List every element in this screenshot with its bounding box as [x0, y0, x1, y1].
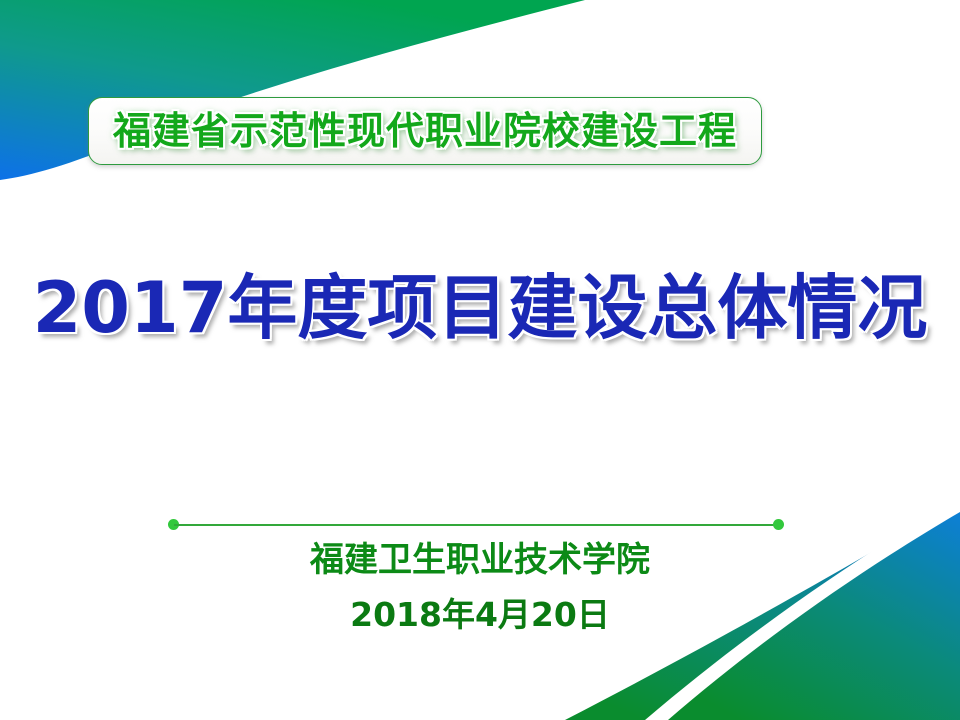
page-title: 2017年度项目建设总体情况 — [0, 272, 960, 346]
divider-dot-right — [773, 519, 784, 530]
organization-name: 福建卫生职业技术学院 — [0, 541, 960, 580]
divider — [168, 519, 784, 530]
divider-line — [174, 524, 778, 526]
header-banner: 福建省示范性现代职业院校建设工程 — [88, 97, 762, 165]
presentation-date: 2018年4月20日 — [0, 596, 960, 634]
title-slide: 福建省示范性现代职业院校建设工程 2017年度项目建设总体情况 福建卫生职业技术… — [0, 0, 960, 720]
header-banner-text: 福建省示范性现代职业院校建设工程 — [113, 112, 737, 150]
